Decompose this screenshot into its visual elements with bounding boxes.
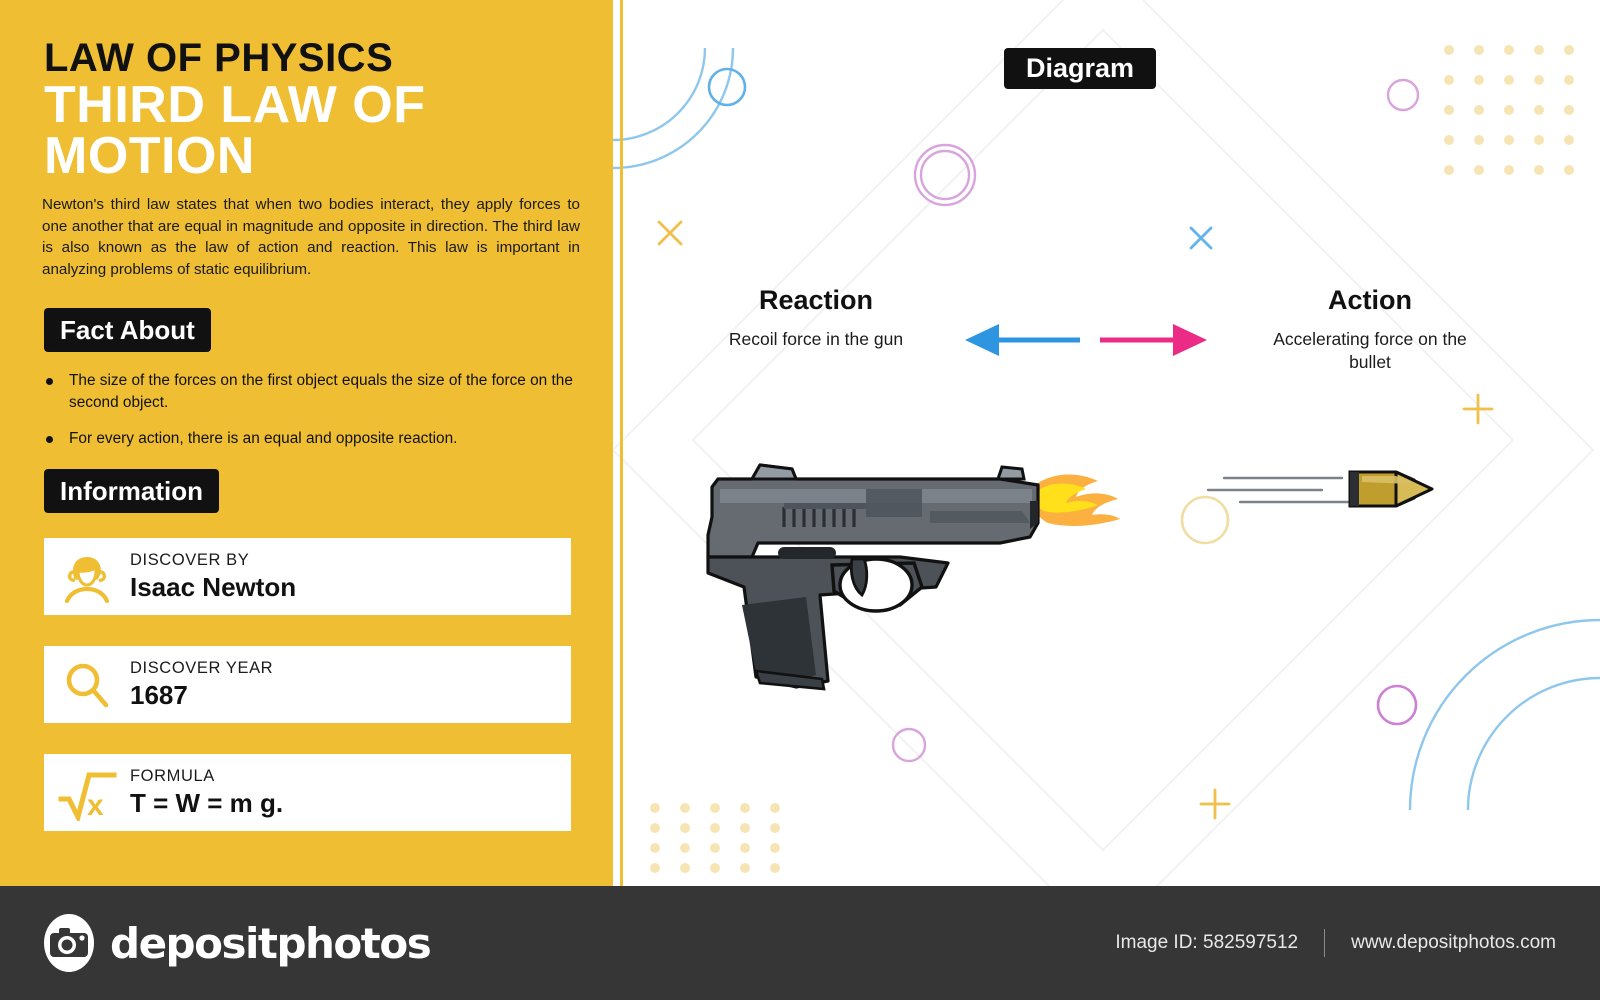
image-id-label: Image ID:	[1115, 932, 1197, 954]
background-decorations	[613, 0, 1600, 886]
left-yellow-panel: LAW OF PHYSICS THIRD LAW OF MOTION Newto…	[0, 0, 613, 886]
camera-icon	[40, 914, 98, 972]
action-heading: Action	[1254, 284, 1486, 316]
panel-divider	[620, 0, 623, 886]
bullet-text: For every action, there is an equal and …	[69, 428, 457, 450]
website-url[interactable]: www.depositphotos.com	[1351, 932, 1556, 954]
square-root-icon: x	[44, 765, 130, 821]
brand-wordmark: depositphotos	[110, 919, 430, 968]
info-card-formula: x FORMULA T = W = m g.	[44, 754, 571, 831]
bullet-dot-icon	[46, 436, 53, 443]
magnifier-icon	[44, 657, 130, 713]
list-item: The size of the forces on the first obje…	[42, 370, 582, 414]
diagram-badge: Diagram	[1004, 48, 1156, 89]
right-diagram-panel	[613, 0, 1600, 886]
footer-separator	[1324, 929, 1325, 957]
card-label: DISCOVER BY	[130, 550, 296, 571]
info-card-discover-year: DISCOVER YEAR 1687	[44, 646, 571, 723]
action-label-group: Action Accelerating force on the bullet	[1254, 284, 1486, 374]
card-value: Isaac Newton	[130, 572, 296, 603]
card-value: 1687	[130, 680, 273, 711]
reaction-subtext: Recoil force in the gun	[700, 328, 932, 351]
svg-text:x: x	[87, 789, 104, 821]
footer-meta: Image ID: 582597512 www.depositphotos.co…	[1115, 929, 1556, 957]
action-subtext: Accelerating force on the bullet	[1254, 328, 1486, 374]
reaction-heading: Reaction	[700, 284, 932, 316]
person-icon	[44, 549, 130, 605]
infographic-canvas: LAW OF PHYSICS THIRD LAW OF MOTION Newto…	[0, 0, 1600, 1000]
intro-paragraph: Newton's third law states that when two …	[42, 194, 580, 280]
list-item: For every action, there is an equal and …	[42, 428, 582, 450]
card-label: FORMULA	[130, 766, 283, 787]
fact-about-tag: Fact About	[44, 308, 211, 352]
bullet-dot-icon	[46, 378, 53, 385]
reaction-label-group: Reaction Recoil force in the gun	[700, 284, 932, 351]
information-tag: Information	[44, 469, 219, 513]
image-id-value: 582597512	[1203, 932, 1298, 954]
depositphotos-logo: depositphotos	[40, 914, 430, 972]
footer-bar: depositphotos Image ID: 582597512 www.de…	[0, 886, 1600, 1000]
kicker-text: LAW OF PHYSICS	[44, 38, 393, 78]
card-label: DISCOVER YEAR	[130, 658, 273, 679]
page-title: THIRD LAW OF MOTION	[44, 80, 584, 183]
fact-bullet-list: The size of the forces on the first obje…	[42, 370, 582, 464]
card-value: T = W = m g.	[130, 788, 283, 819]
info-card-discover-by: DISCOVER BY Isaac Newton	[44, 538, 571, 615]
bullet-text: The size of the forces on the first obje…	[69, 370, 582, 414]
